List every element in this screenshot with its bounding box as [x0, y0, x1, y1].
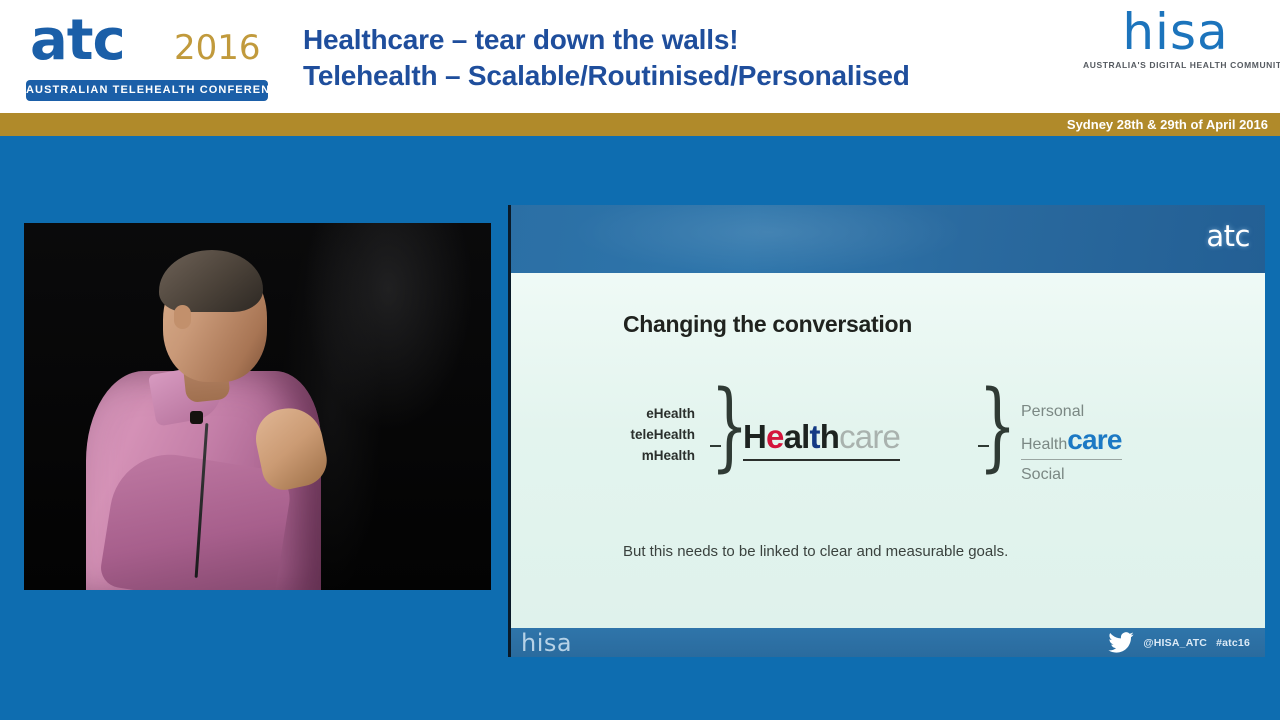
presentation-viewport: atc 2016 AUSTRALIAN TELEHEALTH CONFERENC…	[0, 0, 1280, 720]
future-term-healthcare: Healthcare	[1021, 426, 1122, 460]
event-dates-text: Sydney 28th & 29th of April 2016	[1067, 113, 1268, 136]
future-term-health-prefix: Health	[1021, 436, 1067, 453]
slide-header-sheen	[511, 205, 1265, 273]
speaker-video-pane[interactable]	[24, 223, 491, 590]
healthcare-letter-e: e	[766, 418, 784, 455]
atc-logo-year: 2016	[174, 28, 261, 68]
atc-conference-logo: atc 2016 AUSTRALIAN TELEHEALTH CONFERENC…	[22, 8, 272, 106]
conversation-diagram: eHealth teleHealth mHealth } Healthcare …	[511, 393, 1265, 505]
future-terms-group: Personal Healthcare Social	[1021, 397, 1211, 489]
conference-header-bar: atc 2016 AUSTRALIAN TELEHEALTH CONFERENC…	[0, 0, 1280, 113]
speaker-ear	[174, 305, 191, 329]
twitter-hashtag: #atc16	[1216, 637, 1250, 649]
slide-footer-hisa-logo: hisa	[521, 630, 572, 657]
speaker-hair	[159, 250, 263, 312]
page-title-line-1: Healthcare – tear down the walls!	[303, 22, 1043, 58]
left-brace-tick-icon	[710, 445, 721, 447]
slide-footnote: But this needs to be linked to clear and…	[623, 543, 1008, 560]
legacy-term-mhealth: mHealth	[599, 445, 695, 466]
future-term-personal: Personal	[1021, 397, 1211, 426]
healthcare-letter-h: H	[743, 418, 766, 455]
right-curly-brace-icon: }	[979, 371, 1017, 481]
page-title: Healthcare – tear down the walls! Telehe…	[303, 22, 1043, 94]
speaker-lapel-microphone	[190, 411, 203, 424]
slide-header-band: atc	[511, 205, 1265, 273]
right-brace-tick-icon	[978, 445, 989, 447]
hisa-logo-wordmark: hisa	[1083, 5, 1268, 59]
future-term-care-accent: care	[1067, 424, 1121, 455]
slide-atc-logo: atc	[1206, 219, 1250, 253]
atc-logo-wordmark: atc	[30, 10, 125, 72]
atc-logo-strapline: AUSTRALIAN TELEHEALTH CONFERENCE	[26, 80, 268, 101]
hisa-logo-strapline: AUSTRALIA'S DIGITAL HEALTH COMMUNITY	[1083, 59, 1268, 71]
twitter-handle: @HISA_ATC	[1143, 637, 1207, 649]
healthcare-suffix-care: care	[839, 418, 900, 455]
page-title-line-2: Telehealth – Scalable/Routinised/Persona…	[303, 58, 1043, 94]
healthcare-wordmark: Healthcare	[743, 417, 900, 461]
healthcare-letter-h2: h	[820, 418, 839, 455]
slide-footer-social: @HISA_ATC #atc16	[1108, 628, 1250, 657]
slide-footer-band: hisa @HISA_ATC #atc16	[511, 628, 1265, 657]
speaker-video-frame	[24, 223, 491, 590]
twitter-bird-icon	[1108, 632, 1134, 653]
legacy-term-ehealth: eHealth	[599, 403, 695, 424]
slide-pane[interactable]: atc Changing the conversation eHealth te…	[508, 205, 1265, 657]
event-dates-band: Sydney 28th & 29th of April 2016	[0, 113, 1280, 136]
hisa-organisation-logo: hisa AUSTRALIA'S DIGITAL HEALTH COMMUNIT…	[1083, 5, 1268, 79]
slide-heading: Changing the conversation	[623, 311, 912, 338]
healthcare-letters-al: al	[784, 418, 810, 455]
slide-body: Changing the conversation eHealth teleHe…	[511, 273, 1265, 628]
future-term-social: Social	[1021, 460, 1211, 489]
legacy-term-telehealth: teleHealth	[599, 424, 695, 445]
legacy-terms-group: eHealth teleHealth mHealth	[599, 403, 695, 466]
healthcare-letter-t: t	[810, 418, 820, 455]
